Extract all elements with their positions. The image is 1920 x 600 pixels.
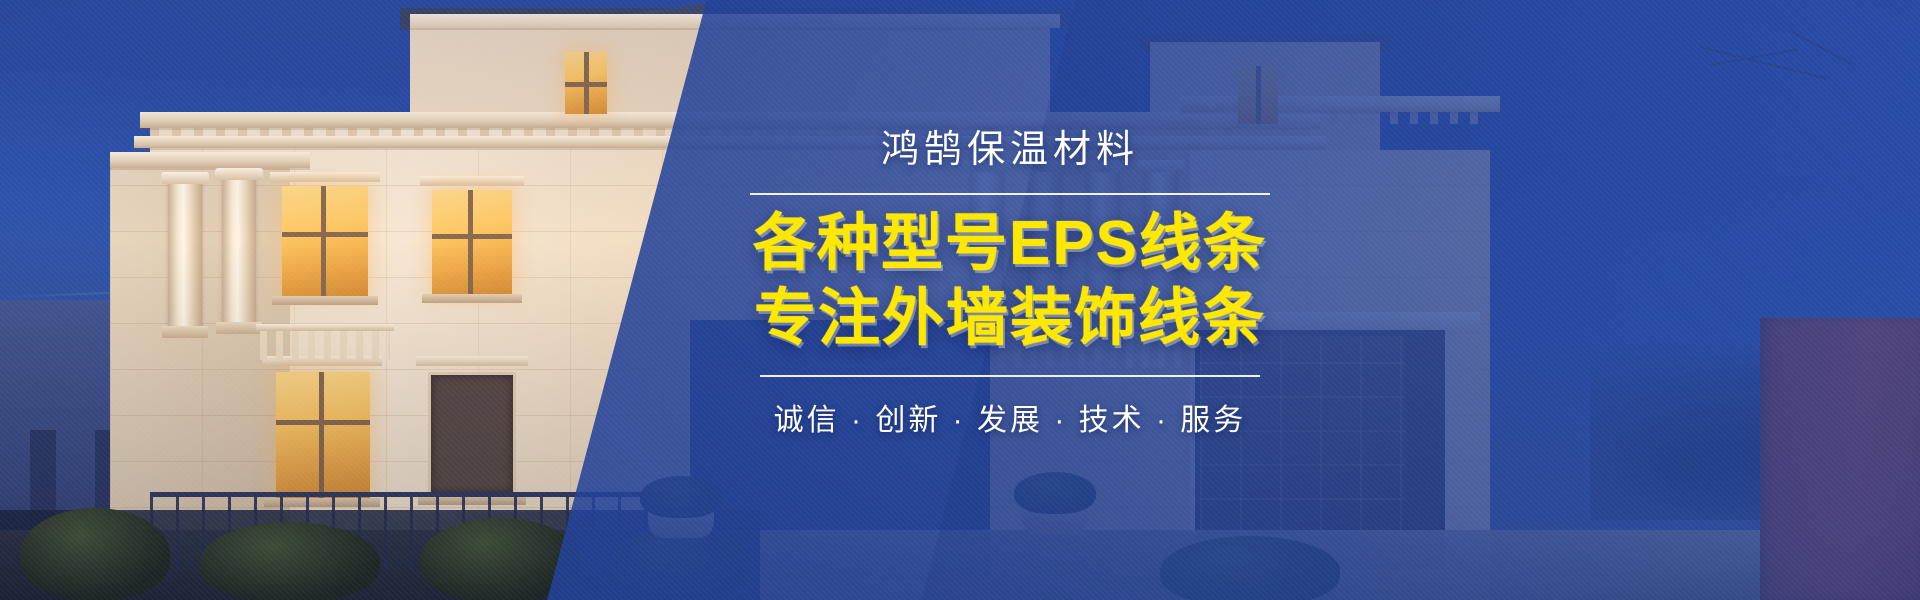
- divider-bottom: [760, 375, 1260, 377]
- headline-line-1: 各种型号EPS线条: [753, 211, 1267, 278]
- banner-text-block: 鸿鹄保温材料 各种型号EPS线条 专注外墙装饰线条 诚信 · 创新 · 发展 ·…: [700, 128, 1320, 439]
- hero-banner: 鸿鹄保温材料 各种型号EPS线条 专注外墙装饰线条 诚信 · 创新 · 发展 ·…: [0, 0, 1920, 600]
- headline-line-2: 专注外墙装饰线条: [754, 286, 1266, 353]
- tagline: 诚信 · 创新 · 发展 · 技术 · 服务: [774, 395, 1247, 439]
- brand-name: 鸿鹄保温材料: [881, 128, 1139, 173]
- divider-top: [750, 193, 1270, 195]
